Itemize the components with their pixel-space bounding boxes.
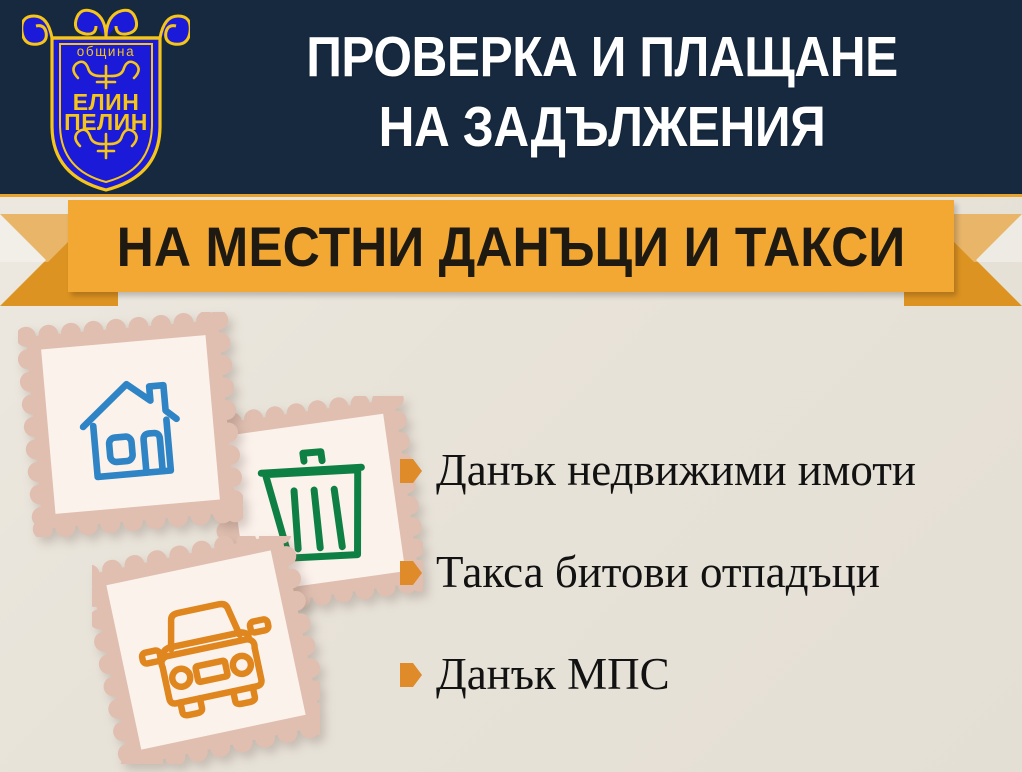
promo-banner: община ЕЛИН ПЕЛИН ПРОВЕРКА И ПЛАЩАНЕ НА … (0, 0, 1022, 772)
page-title: ПРОВЕРКА И ПЛАЩАНЕ НА ЗАДЪЛЖЕНИЯ (249, 22, 955, 162)
list-item-label: Данък недвижими имоти (436, 447, 916, 494)
list-item-label: Такса битови отпадъци (436, 549, 880, 596)
arrow-bullet-icon (400, 561, 422, 585)
list-item[interactable]: Данък недвижими имоти (400, 420, 1010, 522)
tax-type-list: Данък недвижими имоти Такса битови отпад… (400, 420, 1010, 726)
coat-of-arms: община ЕЛИН ПЕЛИН (22, 4, 190, 194)
list-item[interactable]: Данък МПС (400, 624, 1010, 726)
arrow-bullet-icon (400, 663, 422, 687)
subtitle-ribbon: НА МЕСТНИ ДАНЪЦИ И ТАКСИ (0, 196, 1022, 308)
stamp-card-vehicle (92, 536, 320, 764)
ribbon-label: НА МЕСТНИ ДАНЪЦИ И ТАКСИ (103, 200, 918, 292)
header-bar: община ЕЛИН ПЕЛИН ПРОВЕРКА И ПЛАЩАНЕ НА … (0, 0, 1022, 197)
list-item[interactable]: Такса битови отпадъци (400, 522, 1010, 624)
crest-line-3: ПЕЛИН (64, 109, 148, 135)
arrow-bullet-icon (400, 459, 422, 483)
list-item-label: Данък МПС (436, 651, 670, 698)
stamp-card-property (18, 312, 243, 537)
crest-line-1: община (77, 44, 135, 59)
